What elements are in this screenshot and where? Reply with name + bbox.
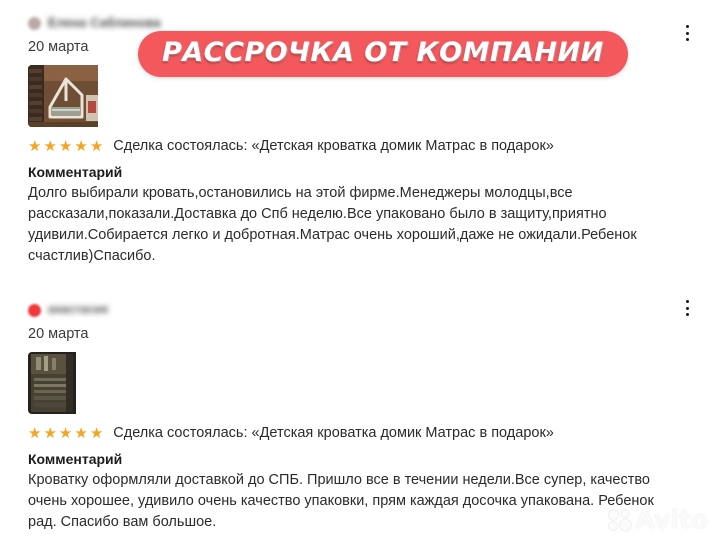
avatar (28, 304, 41, 317)
star-icon: ★ (43, 426, 56, 441)
star-icon: ★ (28, 426, 41, 441)
star-icon: ★ (90, 426, 103, 441)
deal-text: Сделка состоялась: «Детская кроватка дом… (113, 425, 554, 441)
rating-stars: ★ ★ ★ ★ ★ (28, 426, 103, 441)
review-author-name: Елена Саблинова (48, 16, 161, 30)
review-photo-thumbnail[interactable] (28, 352, 720, 414)
star-icon: ★ (59, 426, 72, 441)
review-header: анастасия (28, 301, 720, 319)
deal-row: ★ ★ ★ ★ ★ Сделка состоялась: «Детская кр… (28, 138, 720, 154)
reviews-page: Елена Саблинова 20 марта (0, 0, 720, 540)
comment-text: Кроватку оформляли доставкой до СПБ. При… (28, 470, 668, 533)
avatar (28, 17, 41, 30)
review-date: 20 марта (28, 325, 720, 343)
star-icon: ★ (59, 139, 72, 154)
star-icon: ★ (43, 139, 56, 154)
star-icon: ★ (74, 139, 87, 154)
star-icon: ★ (28, 139, 41, 154)
review-author-name: анастасия (48, 304, 108, 316)
star-icon: ★ (90, 139, 103, 154)
promo-banner-text: РАССРОЧКА ОТ КОМПАНИИ (162, 38, 604, 68)
comment-label: Комментарий (28, 451, 720, 467)
avito-watermark-text: Avito (636, 507, 708, 532)
promo-banner: РАССРОЧКА ОТ КОМПАНИИ (138, 31, 628, 77)
review-header: Елена Саблинова (28, 14, 720, 32)
rating-stars: ★ ★ ★ ★ ★ (28, 139, 103, 154)
comment-label: Комментарий (28, 164, 720, 180)
deal-text: Сделка состоялась: «Детская кроватка дом… (113, 138, 554, 154)
more-options-vertical-icon[interactable] (678, 297, 696, 319)
review-card: анастасия 20 марта ★ (0, 293, 720, 533)
comment-text: Долго выбирали кровать,остановились на э… (28, 183, 668, 267)
star-icon: ★ (74, 426, 87, 441)
more-options-vertical-icon[interactable] (678, 22, 696, 44)
deal-row: ★ ★ ★ ★ ★ Сделка состоялась: «Детская кр… (28, 425, 720, 441)
avito-logo-icon (607, 508, 633, 532)
avito-watermark: Avito (607, 507, 708, 532)
